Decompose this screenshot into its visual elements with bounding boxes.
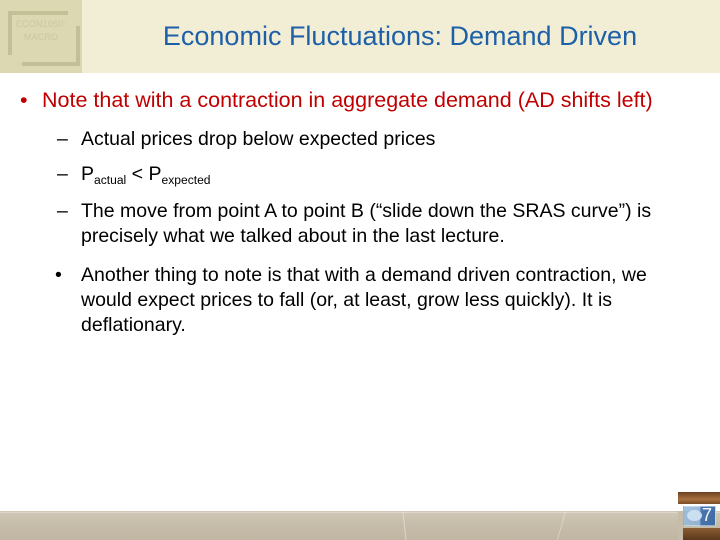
- price-expected-base: P: [148, 163, 161, 185]
- bullet-level2-actual-prices: – Actual prices drop below expected pric…: [0, 127, 720, 152]
- bullet-level3-another-thing-text: Another thing to note is that with a dem…: [81, 263, 681, 338]
- slide-canvas: ECON1050: MACRO Economic Fluctuations: D…: [0, 0, 720, 540]
- bullet-dash-icon: –: [57, 127, 68, 152]
- slide-body: • Note that with a contraction in aggreg…: [0, 73, 720, 511]
- bullet-level3-another-thing: • Another thing to note is that with a d…: [0, 263, 720, 338]
- corner-thumbnail-image: 7: [678, 492, 720, 540]
- spacer-after-point-a-to-b: [0, 249, 720, 263]
- bullet-level2-price-inequality-text: Pactual < Pexpected: [81, 162, 693, 189]
- thumbnail-shelf-top: [678, 492, 720, 504]
- bullet-dot-icon: •: [55, 263, 62, 288]
- thumbnail-left-gap: [678, 511, 683, 540]
- price-actual-base: P: [81, 163, 94, 185]
- course-logo-text: ECON1050: MACRO: [0, 18, 82, 44]
- footer-seam-left-icon: [402, 511, 408, 540]
- thumbnail-oval-icon: [687, 510, 702, 521]
- bullet-level2-actual-prices-text: Actual prices drop below expected prices: [81, 127, 693, 152]
- title-band: ECON1050: MACRO Economic Fluctuations: D…: [0, 0, 720, 73]
- bullet-level2-point-a-to-b-text: The move from point A to point B (“slide…: [81, 199, 693, 249]
- spacer-after-price-inequality: [0, 189, 720, 199]
- slide-number: 7: [702, 505, 718, 526]
- bullet-dot-icon: •: [20, 87, 28, 113]
- slide-title: Economic Fluctuations: Demand Driven: [88, 19, 712, 53]
- spacer-after-actual-prices: [0, 152, 720, 162]
- inequality-operator: <: [126, 163, 148, 185]
- price-expected-subscript: expected: [162, 173, 211, 187]
- bullet-level1-note: • Note that with a contraction in aggreg…: [0, 87, 720, 113]
- bullet-level2-point-a-to-b: – The move from point A to point B (“sli…: [0, 199, 720, 249]
- footer-seam-right-icon: [554, 511, 567, 540]
- footer-highlight-line: [0, 512, 720, 513]
- footer-band: [0, 511, 720, 540]
- price-actual-subscript: actual: [94, 173, 126, 187]
- course-logo-line-1: ECON1050:: [0, 18, 82, 31]
- bullet-dash-icon: –: [57, 162, 68, 187]
- bullet-dash-icon: –: [57, 199, 68, 224]
- thumbnail-shelf-bottom: [678, 528, 720, 540]
- spacer-top: [0, 73, 720, 87]
- course-logo-line-2: MACRO: [0, 31, 82, 44]
- bullet-level1-text: Note that with a contraction in aggregat…: [42, 87, 682, 113]
- course-logo-plate: ECON1050: MACRO: [0, 0, 82, 73]
- spacer-after-level1: [0, 113, 720, 127]
- bullet-level2-price-inequality: – Pactual < Pexpected: [0, 162, 720, 189]
